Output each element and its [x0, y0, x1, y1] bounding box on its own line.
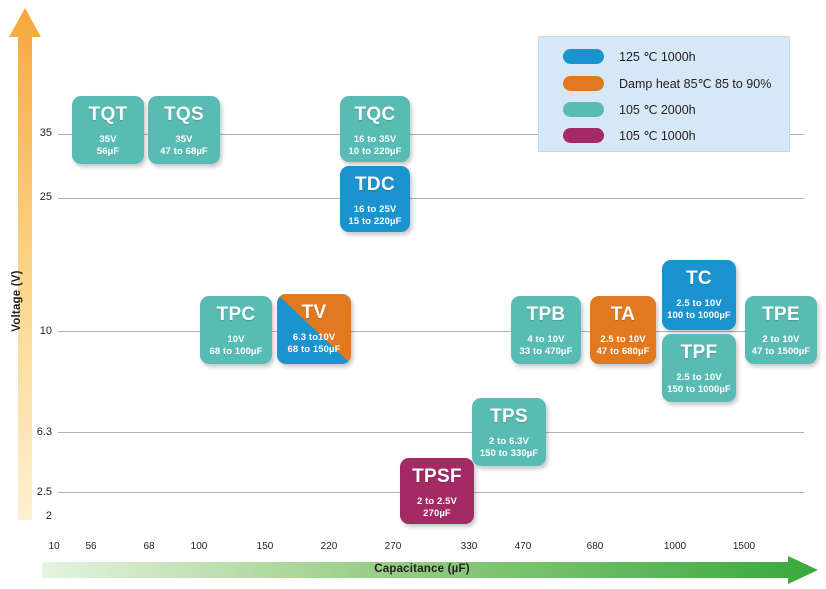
x-tick-label: 270	[373, 541, 413, 552]
legend-label: 125 ℃ 1000h	[619, 49, 696, 64]
product-box-tc[interactable]: TC2.5 to 10V100 to 1000µF	[662, 260, 736, 330]
legend-label: 105 ℃ 2000h	[619, 102, 696, 117]
x-tick-label: 150	[245, 541, 285, 552]
product-box-name: TC	[662, 269, 736, 288]
product-box-tqt[interactable]: TQT35V56µF	[72, 96, 144, 164]
legend-swatch	[563, 128, 604, 143]
legend-swatch	[563, 102, 604, 117]
product-box-name: TA	[590, 305, 656, 324]
legend-label: Damp heat 85℃ 85 to 90%	[619, 76, 771, 91]
product-box-name: TV	[277, 303, 351, 322]
product-box-tpc[interactable]: TPC10V68 to 100µF	[200, 296, 272, 364]
chart-canvas: Voltage (V) Capacitance (µF) 3525106.32.…	[0, 0, 826, 588]
gridline	[58, 198, 804, 199]
product-box-tpsf[interactable]: TPSF2 to 2.5V270µF	[400, 458, 474, 524]
y-tick-label: 2	[12, 510, 52, 522]
product-box-name: TPE	[745, 305, 817, 324]
product-box-tpb[interactable]: TPB4 to 10V33 to 470µF	[511, 296, 581, 364]
product-box-voltage: 16 to 25V	[340, 204, 410, 216]
legend-swatch	[563, 76, 604, 91]
x-tick-label: 330	[449, 541, 489, 552]
product-box-name: TPF	[662, 343, 736, 362]
product-box-capacitance: 10 to 220µF	[340, 146, 410, 158]
product-box-voltage: 4 to 10V	[511, 334, 581, 346]
x-tick-label: 220	[309, 541, 349, 552]
gridline	[58, 331, 804, 332]
product-box-voltage: 2.5 to 10V	[590, 334, 656, 346]
product-box-voltage: 2 to 2.5V	[400, 496, 474, 508]
product-box-capacitance: 33 to 470µF	[511, 346, 581, 358]
product-box-name: TPC	[200, 305, 272, 324]
x-tick-label: 680	[575, 541, 615, 552]
product-box-capacitance: 47 to 680µF	[590, 346, 656, 358]
product-box-voltage: 6.3 to10V	[277, 332, 351, 344]
x-tick-label: 470	[503, 541, 543, 552]
x-tick-label: 68	[129, 541, 169, 552]
legend-row[interactable]: 105 ℃ 2000h	[563, 102, 696, 117]
y-tick-label: 35	[12, 127, 52, 139]
product-box-tqs[interactable]: TQS35V47 to 68µF	[148, 96, 220, 164]
x-tick-label: 10	[34, 541, 74, 552]
product-box-capacitance: 68 to 150µF	[277, 344, 351, 356]
product-box-voltage: 16 to 35V	[340, 134, 410, 146]
x-tick-label: 56	[71, 541, 111, 552]
y-tick-label: 25	[12, 191, 52, 203]
product-box-tpe[interactable]: TPE2 to 10V47 to 1500µF	[745, 296, 817, 364]
legend-swatch	[563, 49, 604, 64]
product-box-voltage: 10V	[200, 334, 272, 346]
x-tick-label: 1500	[724, 541, 764, 552]
product-box-tv[interactable]: TV6.3 to10V68 to 150µF	[277, 294, 351, 364]
product-box-voltage: 35V	[72, 134, 144, 146]
y-tick-label: 6.3	[12, 426, 52, 438]
product-box-capacitance: 47 to 68µF	[148, 146, 220, 158]
product-box-name: TDC	[340, 175, 410, 194]
product-box-name: TPS	[472, 407, 546, 426]
product-box-capacitance: 47 to 1500µF	[745, 346, 817, 358]
product-box-tps[interactable]: TPS2 to 6.3V150 to 330µF	[472, 398, 546, 466]
legend-label: 105 ℃ 1000h	[619, 128, 696, 143]
product-box-capacitance: 270µF	[400, 508, 474, 520]
product-box-ta[interactable]: TA2.5 to 10V47 to 680µF	[590, 296, 656, 364]
product-box-tpf[interactable]: TPF2.5 to 10V150 to 1000µF	[662, 334, 736, 402]
product-box-voltage: 2.5 to 10V	[662, 372, 736, 384]
legend-row[interactable]: 125 ℃ 1000h	[563, 49, 696, 64]
product-box-capacitance: 15 to 220µF	[340, 216, 410, 228]
x-tick-label: 100	[179, 541, 219, 552]
product-box-capacitance: 150 to 330µF	[472, 448, 546, 460]
product-box-name: TQS	[148, 105, 220, 124]
product-box-tqc[interactable]: TQC16 to 35V10 to 220µF	[340, 96, 410, 162]
product-box-tdc[interactable]: TDC16 to 25V15 to 220µF	[340, 166, 410, 232]
product-box-name: TQT	[72, 105, 144, 124]
legend-row[interactable]: 105 ℃ 1000h	[563, 128, 696, 143]
product-box-capacitance: 100 to 1000µF	[662, 310, 736, 322]
product-box-name: TPSF	[400, 467, 474, 486]
legend-row[interactable]: Damp heat 85℃ 85 to 90%	[563, 76, 771, 91]
y-tick-label: 2.5	[12, 486, 52, 498]
product-box-capacitance: 56µF	[72, 146, 144, 158]
y-tick-label: 10	[12, 325, 52, 337]
legend-panel: 125 ℃ 1000hDamp heat 85℃ 85 to 90%105 ℃ …	[538, 36, 790, 152]
product-box-voltage: 2 to 10V	[745, 334, 817, 346]
x-axis-title: Capacitance (µF)	[42, 563, 802, 575]
product-box-name: TPB	[511, 305, 581, 324]
product-box-capacitance: 68 to 100µF	[200, 346, 272, 358]
x-tick-label: 1000	[655, 541, 695, 552]
product-box-voltage: 2 to 6.3V	[472, 436, 546, 448]
gridline	[58, 432, 804, 433]
product-box-voltage: 35V	[148, 134, 220, 146]
product-box-name: TQC	[340, 105, 410, 124]
product-box-voltage: 2.5 to 10V	[662, 298, 736, 310]
product-box-capacitance: 150 to 1000µF	[662, 384, 736, 396]
